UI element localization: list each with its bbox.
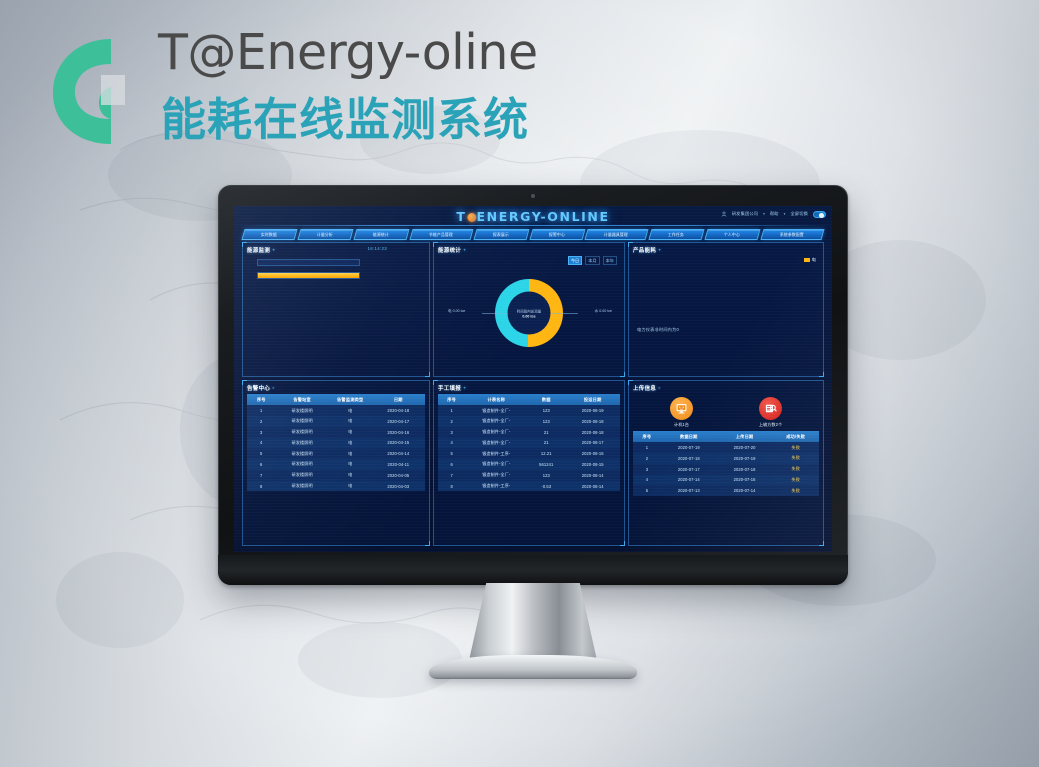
status-badge: 失败 — [772, 485, 819, 496]
cell-index: 7 — [438, 470, 465, 481]
panel-alarm-center: 告警中心» 序号 告警站室 告警监测类型 日期 1研发楼照明电2020-04-1… — [242, 380, 430, 546]
upload-table-body: 12020-07-192020-07-20失败22020-07-182020-0… — [633, 442, 819, 496]
product-legend: 电 — [804, 257, 816, 263]
nav-item-8[interactable]: 个人中心 — [705, 229, 761, 240]
energy-bar-track — [257, 259, 360, 266]
cell-index: 3 — [633, 464, 661, 475]
panel-more-icon[interactable]: » — [658, 386, 661, 390]
app-logo-pre: T — [456, 209, 466, 224]
cell-date: 2020-08-15 — [565, 448, 620, 459]
fullscreen-toggle[interactable] — [813, 211, 826, 218]
cell-index: 3 — [438, 427, 465, 438]
cell-index: 7 — [247, 470, 275, 481]
col-type: 告警监测类型 — [329, 394, 372, 405]
cell-type: 电 — [329, 470, 372, 481]
cell-upload-date: 2020-07-18 — [717, 464, 773, 475]
cell-index: 1 — [633, 442, 661, 453]
brand-subtitle: 能耗在线监测系统 — [161, 83, 529, 148]
cell-index: 4 — [438, 438, 465, 449]
brand-title: T@Energy-oline — [158, 24, 538, 81]
help-label[interactable]: 帮助 — [770, 211, 779, 217]
cell-index: 6 — [247, 459, 275, 470]
cell-index: 5 — [247, 448, 275, 459]
status-badge: 失败 — [772, 453, 819, 464]
legend-swatch — [804, 258, 810, 262]
cell-date: 2020-08-17 — [565, 438, 620, 449]
nav-item-7[interactable]: 工作任务 — [649, 229, 705, 240]
monitor-chin — [218, 555, 848, 585]
cell-meter: 锻造制件-全厂- — [465, 427, 527, 438]
cell-value: 123 — [527, 416, 565, 427]
cell-upload-date: 2020-07-14 — [717, 485, 773, 496]
manual-table-body: 1锻造制件-全厂-1232020-08-192锻造制件-全厂-1232020-0… — [438, 405, 620, 491]
tab-year[interactable]: 本年 — [603, 256, 617, 265]
cell-date: 2020-04-16 — [372, 427, 425, 438]
cell-meter: 锻造制件-全厂- — [465, 416, 527, 427]
table-row[interactable]: 1锻造制件-全厂-1232020-08-19 — [438, 405, 620, 416]
chevron-down-icon[interactable]: ▾ — [763, 212, 765, 216]
chevron-down-icon-2[interactable]: ▾ — [784, 212, 786, 216]
energy-bar-track — [257, 272, 360, 279]
cell-meter: 锻造制件-工序- — [465, 448, 527, 459]
cell-station: 研发楼照明 — [275, 405, 328, 416]
nav-label: 系统参数配置 — [781, 232, 805, 238]
table-row[interactable]: 52020-07-132020-07-14失败 — [633, 485, 819, 496]
panel-title-text: 告警中心 — [247, 386, 270, 392]
table-row[interactable]: 5锻造制件-工序-12.212020-08-15 — [438, 448, 620, 459]
cell-index: 8 — [247, 481, 275, 492]
table-row[interactable]: 4研发楼照明电2020-04-15 — [247, 438, 425, 449]
cell-data-date: 2020-07-18 — [661, 453, 717, 464]
table-row[interactable]: 8锻造制件-工序--0.532020-08-14 — [438, 481, 620, 492]
energy-bar-value — [258, 273, 359, 278]
cell-index: 1 — [247, 405, 275, 416]
monitor-mockup: TENERGY-ONLINE 研发集团公司 ▾ 帮助 ▾ 全屏切换 — [218, 185, 848, 585]
manual-table: 序号 计表名称 数据 投运日期 1锻造制件-全厂-1232020-08-192锻… — [438, 394, 620, 491]
status-badge: 失败 — [772, 442, 819, 453]
upload-tile-document[interactable]: 上输方数2个 — [722, 397, 819, 428]
col-index: 序号 — [633, 431, 661, 442]
nav-label: 计量器具管理 — [605, 232, 629, 238]
nav-label: 计量分析 — [317, 232, 333, 238]
table-row[interactable]: 8研发楼照明电2020-04-03 — [247, 481, 425, 492]
table-row[interactable]: 1研发楼照明电2020-04-18 — [247, 405, 425, 416]
panel-title: 上传信息» — [633, 384, 661, 392]
nav-item-5[interactable]: 报警中心 — [529, 229, 585, 240]
nav-label: 报表展示 — [493, 232, 509, 238]
app-header: TENERGY-ONLINE 研发集团公司 ▾ 帮助 ▾ 全屏切换 — [234, 206, 832, 228]
upload-table: 序号 数据日期 上传日期 成功/失败 12020-07-192020-07-20… — [633, 431, 819, 496]
monitor-stand-neck — [468, 583, 598, 665]
cell-index: 8 — [438, 481, 465, 492]
user-name: 研发集团公司 — [732, 211, 758, 217]
cell-value: 21 — [527, 427, 565, 438]
nav-item-3[interactable]: 节能产品管理 — [409, 229, 473, 240]
cell-date: 2020-08-15 — [565, 459, 620, 470]
cell-value: 123 — [527, 470, 565, 481]
panel-expand-icon[interactable]: + — [463, 386, 466, 390]
cell-index: 2 — [438, 416, 465, 427]
nav-label: 节能产品管理 — [429, 232, 453, 238]
dashboard-app: TENERGY-ONLINE 研发集团公司 ▾ 帮助 ▾ 全屏切换 — [234, 206, 832, 552]
cell-meter: 锻造制件-全厂- — [465, 438, 527, 449]
panel-energy-statistics: 能源统计+ 今日 本月 本年 时间段内总消量 0.00 tce 电 0.00 t… — [433, 242, 625, 377]
donut-chart: 时间段内总消量 0.00 tce — [495, 279, 563, 347]
col-index: 序号 — [247, 394, 275, 405]
table-header-row: 序号 计表名称 数据 投运日期 — [438, 394, 620, 405]
cell-index: 6 — [438, 459, 465, 470]
table-row[interactable]: 4锻造制件-全厂-212020-08-17 — [438, 438, 620, 449]
cell-upload-date: 2020-07-19 — [717, 453, 773, 464]
cell-station: 研发楼照明 — [275, 438, 328, 449]
panel-title: 能源监测+ — [247, 246, 276, 254]
table-row[interactable]: 5研发楼照明电2020-04-14 — [247, 448, 425, 459]
cell-value: 561241 — [527, 459, 565, 470]
cell-data-date: 2020-07-17 — [661, 464, 717, 475]
cell-date: 2020-04-14 — [372, 448, 425, 459]
cell-type: 电 — [329, 448, 372, 459]
nav-label: 工作任务 — [669, 232, 685, 238]
nav-item-4[interactable]: 报表展示 — [473, 229, 529, 240]
cell-type: 电 — [329, 427, 372, 438]
cell-meter: 锻造制件-全厂- — [465, 459, 527, 470]
stat-period-tabs: 今日 本月 本年 — [568, 256, 617, 265]
cell-index: 2 — [633, 453, 661, 464]
table-row[interactable]: 7研发楼照明电2020-04-05 — [247, 470, 425, 481]
at-symbol-icon — [467, 213, 476, 222]
cell-date: 2020-08-18 — [565, 427, 620, 438]
table-row[interactable]: 3锻造制件-全厂-212020-08-18 — [438, 427, 620, 438]
cell-station: 研发楼照明 — [275, 470, 328, 481]
product-note: 电力仪表非时间内为0 — [637, 327, 679, 333]
col-date: 投运日期 — [565, 394, 620, 405]
energy-row-electric — [248, 272, 426, 279]
table-row[interactable]: 12020-07-192020-07-20失败 — [633, 442, 819, 453]
cell-data-date: 2020-07-13 — [661, 485, 717, 496]
col-upload-date: 上传日期 — [717, 431, 773, 442]
cell-data-date: 2020-07-14 — [661, 475, 717, 486]
tab-today[interactable]: 今日 — [568, 256, 582, 265]
panel-title: 告警中心» — [247, 384, 275, 392]
cell-meter: 锻造制件-工序- — [465, 481, 527, 492]
cell-index: 4 — [247, 438, 275, 449]
cell-index: 5 — [633, 485, 661, 496]
cell-value: 12.21 — [527, 448, 565, 459]
nav-label: 能源统计 — [373, 232, 389, 238]
cell-date: 2020-04-17 — [372, 416, 425, 427]
cell-date: 2020-08-18 — [565, 416, 620, 427]
alarm-table: 序号 告警站室 告警监测类型 日期 1研发楼照明电2020-04-182研发楼照… — [247, 394, 425, 491]
nav-item-0[interactable]: 实时数据 — [241, 229, 297, 240]
table-row[interactable]: 2研发楼照明电2020-04-17 — [247, 416, 425, 427]
monitor-stand-base — [429, 655, 637, 679]
nav-item-9[interactable]: 系统参数配置 — [761, 229, 825, 240]
col-data-date: 数据日期 — [661, 431, 717, 442]
panel-title-text: 能源统计 — [438, 248, 461, 254]
cell-index: 3 — [247, 427, 275, 438]
cell-index: 2 — [247, 416, 275, 427]
panel-title: 能源统计+ — [438, 246, 467, 254]
cell-value: 123 — [527, 405, 565, 416]
device-monitor-icon — [670, 397, 693, 420]
donut-center-line2: 0.00 tce — [508, 314, 550, 318]
cell-station: 研发楼照明 — [275, 459, 328, 470]
panel-title: 手工填报+ — [438, 384, 467, 392]
cell-date: 2020-08-14 — [565, 470, 620, 481]
cell-meter: 锻造制件-全厂- — [465, 470, 527, 481]
table-row[interactable]: 3研发楼照明电2020-04-16 — [247, 427, 425, 438]
panel-manual-entry: 手工填报+ 序号 计表名称 数据 投运日期 1锻造制件-全厂-1232020-0… — [433, 380, 625, 546]
table-row[interactable]: 6锻造制件-全厂-5612412020-08-15 — [438, 459, 620, 470]
nav-item-1[interactable]: 计量分析 — [297, 229, 353, 240]
cell-station: 研发楼照明 — [275, 481, 328, 492]
alarm-table-body: 1研发楼照明电2020-04-182研发楼照明电2020-04-173研发楼照明… — [247, 405, 425, 491]
nav-label: 报警中心 — [549, 232, 565, 238]
upload-tile-device[interactable]: 计机1台 — [633, 397, 730, 428]
header-user-area[interactable]: 研发集团公司 ▾ 帮助 ▾ 全屏切换 — [721, 211, 826, 218]
table-header-row: 序号 告警站室 告警监测类型 日期 — [247, 394, 425, 405]
table-row[interactable]: 32020-07-172020-07-18失败 — [633, 464, 819, 475]
document-search-icon — [759, 397, 782, 420]
panel-upload-info: 上传信息» 计机1台 — [628, 380, 824, 546]
cell-data-date: 2020-07-19 — [661, 442, 717, 453]
cell-date: 2020-04-15 — [372, 438, 425, 449]
webcam-dot — [531, 194, 535, 198]
cell-station: 研发楼照明 — [275, 448, 328, 459]
monitor-timestamp: 16:14:23 — [368, 246, 388, 251]
upload-tile-label: 计机1台 — [633, 422, 730, 428]
c-letter-logo-icon — [49, 31, 125, 149]
col-status: 成功/失败 — [772, 431, 819, 442]
cell-upload-date: 2020-07-20 — [717, 442, 773, 453]
table-header-row: 序号 数据日期 上传日期 成功/失败 — [633, 431, 819, 442]
nav-label: 实时数据 — [261, 232, 277, 238]
cell-index: 1 — [438, 405, 465, 416]
cell-date: 2020-04-03 — [372, 481, 425, 492]
user-icon — [721, 211, 727, 217]
nav-item-2[interactable]: 能源统计 — [353, 229, 409, 240]
panel-energy-monitor: 能源监测+ 16:14:23 — [242, 242, 430, 377]
cell-type: 电 — [329, 459, 372, 470]
cell-date: 2020-04-18 — [372, 405, 425, 416]
table-row[interactable]: 22020-07-182020-07-19失败 — [633, 453, 819, 464]
col-date: 日期 — [372, 394, 425, 405]
fullscreen-label: 全屏切换 — [790, 211, 808, 217]
status-badge: 失败 — [772, 464, 819, 475]
panel-title-text: 上传信息 — [633, 386, 656, 392]
tab-month[interactable]: 本月 — [585, 256, 599, 265]
table-row[interactable]: 2锻造制件-全厂-1232020-08-18 — [438, 416, 620, 427]
donut-center-line1: 时间段内总消量 — [508, 308, 550, 313]
app-logo-post: ENERGY-ONLINE — [477, 209, 610, 224]
table-row[interactable]: 7锻造制件-全厂-1232020-08-14 — [438, 470, 620, 481]
status-badge: 失败 — [772, 475, 819, 486]
col-meter: 计表名称 — [465, 394, 527, 405]
col-station: 告警站室 — [275, 394, 328, 405]
panel-title-text: 能源监测 — [247, 248, 270, 254]
nav-item-6[interactable]: 计量器具管理 — [585, 229, 649, 240]
panel-expand-icon[interactable]: + — [272, 248, 275, 252]
panel-expand-icon[interactable]: + — [658, 248, 661, 252]
col-index: 序号 — [438, 394, 465, 405]
panel-product-energy: 产品能耗+ 电 电力仪表非时间内为0 — [628, 242, 824, 377]
cell-date: 2020-04-11 — [372, 459, 425, 470]
panel-expand-icon[interactable]: + — [463, 248, 466, 252]
upload-tile-label: 上输方数2个 — [722, 422, 819, 428]
brand-block: T@Energy-oline 能耗在线监测系统 — [49, 27, 589, 155]
table-row[interactable]: 42020-07-142020-07-15失败 — [633, 475, 819, 486]
table-row[interactable]: 6研发楼照明电2020-04-11 — [247, 459, 425, 470]
panel-title-text: 产品能耗 — [633, 248, 656, 254]
cell-meter: 锻造制件-全厂- — [465, 405, 527, 416]
cell-date: 2020-08-19 — [565, 405, 620, 416]
cell-station: 研发楼照明 — [275, 427, 328, 438]
monitor-screen: TENERGY-ONLINE 研发集团公司 ▾ 帮助 ▾ 全屏切换 — [234, 206, 832, 552]
cell-upload-date: 2020-07-15 — [717, 475, 773, 486]
cell-value: 21 — [527, 438, 565, 449]
cell-date: 2020-04-05 — [372, 470, 425, 481]
nav-label: 个人中心 — [725, 232, 741, 238]
col-value: 数据 — [527, 394, 565, 405]
legend-label: 电 — [812, 257, 816, 263]
cell-value: -0.53 — [527, 481, 565, 492]
cell-date: 2020-08-14 — [565, 481, 620, 492]
cell-type: 电 — [329, 416, 372, 427]
cell-index: 4 — [633, 475, 661, 486]
donut-center-text: 时间段内总消量 0.00 tce — [508, 308, 550, 318]
cell-type: 电 — [329, 438, 372, 449]
cell-type: 电 — [329, 405, 372, 416]
app-logo: TENERGY-ONLINE — [456, 209, 609, 224]
donut-legend-left: 电 0.00 tce — [448, 309, 465, 314]
cell-station: 研发楼照明 — [275, 416, 328, 427]
cell-type: 电 — [329, 481, 372, 492]
cell-index: 5 — [438, 448, 465, 459]
panel-more-icon[interactable]: » — [272, 386, 275, 390]
donut-legend-right: 水 0.00 tce — [595, 309, 612, 314]
main-nav: 实时数据 计量分析 能源统计 节能产品管理 报表展示 报警中心 计量器具管理 工… — [243, 229, 823, 240]
panel-title: 产品能耗+ — [633, 246, 662, 254]
panel-title-text: 手工填报 — [438, 386, 461, 392]
energy-row-water — [248, 259, 426, 266]
